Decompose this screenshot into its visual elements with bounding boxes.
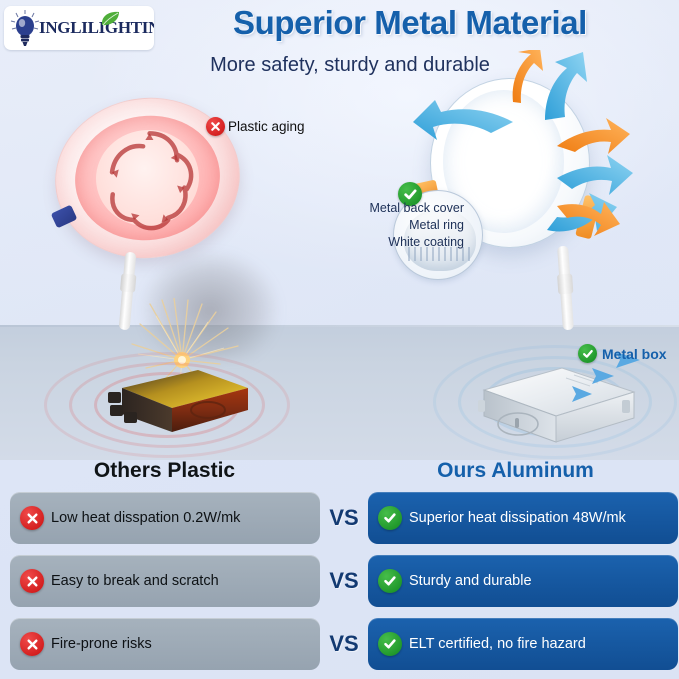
ours-cell-1-label: Superior heat dissipation 48W/mk (409, 510, 626, 527)
ours-column-header: Ours Aluminum (388, 459, 643, 483)
green-check-badge-icon (378, 506, 402, 530)
ours-cell-3: ELT certified, no fire hazard (368, 618, 678, 670)
ours-cell-1: Superior heat dissipation 48W/mk (368, 492, 678, 544)
green-check-badge-icon (378, 569, 402, 593)
burning-plastic-junction-box-icon (100, 362, 250, 434)
comparison-row: Low heat disspation 0.2W/mk VS Superior … (0, 492, 679, 544)
others-cell-2: Easy to break and scratch (10, 555, 320, 607)
metal-feature-callouts: Metal back cover Metal ring White coatin… (334, 200, 464, 251)
vs-separator-1: VS (320, 505, 368, 531)
red-x-badge-icon (206, 117, 225, 136)
vs-separator-2: VS (320, 568, 368, 594)
callout-metal-ring: Metal ring (334, 217, 464, 234)
comparison-row: Fire-prone risks VS ELT certified, no fi… (0, 618, 679, 670)
comparison-table: Low heat disspation 0.2W/mk VS Superior … (0, 492, 679, 679)
others-cell-2-label: Easy to break and scratch (51, 573, 219, 590)
others-cell-1-label: Low heat disspation 0.2W/mk (51, 510, 240, 527)
callout-white-coating: White coating (334, 234, 464, 251)
comparison-row: Easy to break and scratch VS Sturdy and … (0, 555, 679, 607)
others-cell-3-label: Fire-prone risks (51, 636, 152, 653)
plastic-aging-tag: Plastic aging (206, 117, 305, 136)
ours-cell-2-label: Sturdy and durable (409, 573, 532, 590)
page-title: Superior Metal Material (160, 4, 660, 42)
callout-metal-back-cover: Metal back cover (334, 200, 464, 217)
infographic-page: Plastic aging (0, 0, 679, 679)
heat-swirl-arrows-icon (46, 87, 249, 268)
red-x-badge-icon (20, 569, 44, 593)
plastic-downlight-graphic (46, 87, 249, 268)
leaf-icon (98, 10, 122, 30)
brand-logo: INGLILIGHTING (4, 6, 154, 50)
ours-cell-2: Sturdy and durable (368, 555, 678, 607)
others-column-header: Others Plastic (42, 459, 287, 483)
vs-separator-3: VS (320, 631, 368, 657)
others-cell-3: Fire-prone risks (10, 618, 320, 670)
red-x-badge-icon (20, 506, 44, 530)
brand-logo-text: INGLILIGHTING (39, 18, 154, 38)
green-check-badge-icon (578, 344, 597, 363)
metal-box-tag: Metal box (578, 344, 667, 363)
plastic-aging-label: Plastic aging (228, 119, 305, 134)
green-check-badge-icon (378, 632, 402, 656)
ours-cell-3-label: ELT certified, no fire hazard (409, 636, 586, 653)
lightbulb-icon (8, 8, 42, 48)
red-x-badge-icon (20, 632, 44, 656)
metal-box-label: Metal box (602, 346, 667, 362)
page-subtitle: More safety, sturdy and durable (150, 54, 550, 77)
others-cell-1: Low heat disspation 0.2W/mk (10, 492, 320, 544)
